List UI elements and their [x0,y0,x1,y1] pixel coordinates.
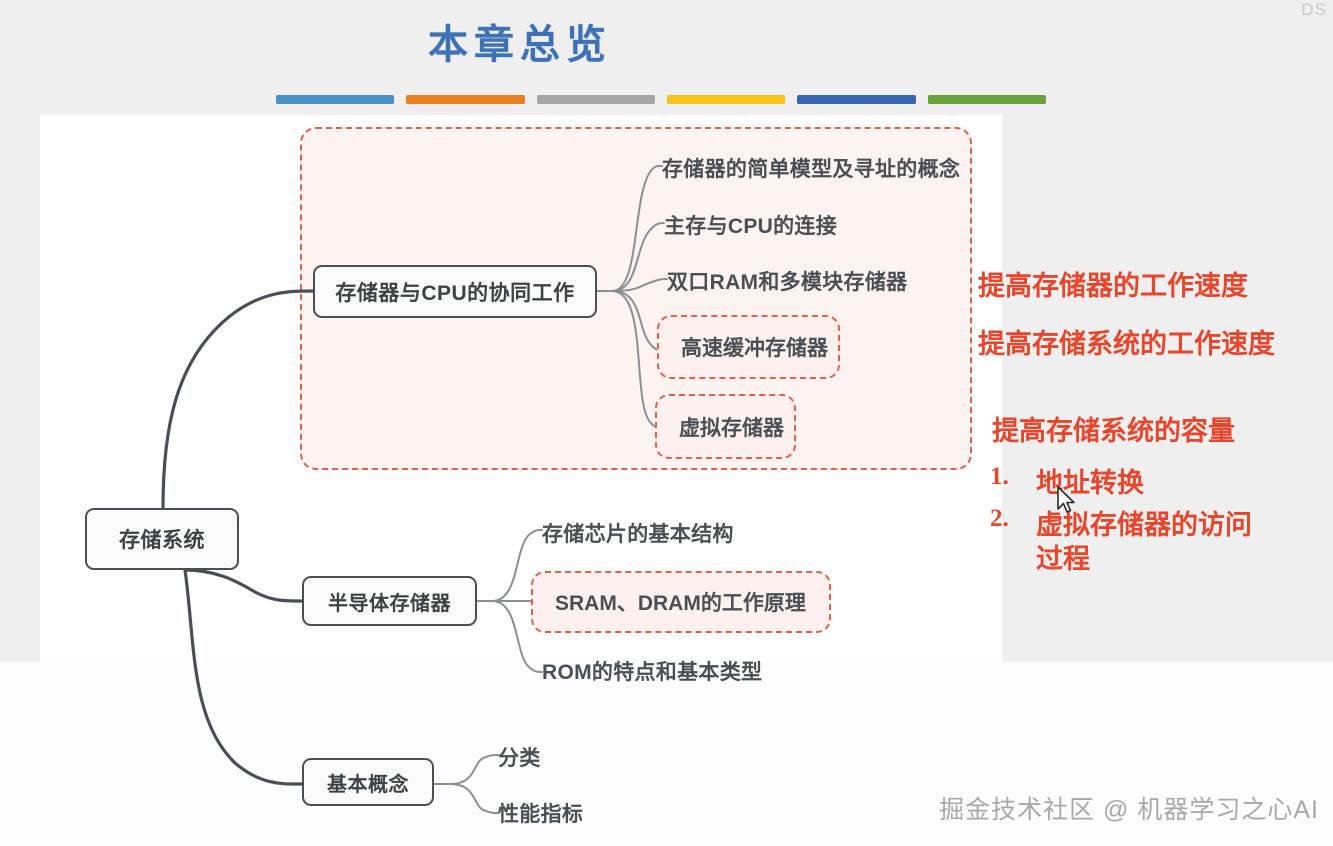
node-label: 存储系统 [119,524,205,554]
mindmap-branch-node-1[interactable]: 存储器与CPU的协同工作 [313,265,597,318]
leaf-dashbox-2-2[interactable]: SRAM、DRAM的工作原理 [531,571,831,633]
annotation-line-2: 提高存储系统的工作速度 [978,322,1275,361]
annotation-numbered-text-1: 地址转换 [1036,461,1144,500]
mindmap-root-node[interactable]: 存储系统 [85,508,239,570]
leaf-label-1-3[interactable]: 双口RAM和多模块存储器 [667,266,907,296]
mouse-cursor-icon [1056,486,1078,516]
node-label: 半导体存储器 [328,587,451,616]
leaf-label: 高速缓冲存储器 [681,332,828,362]
leaf-label-3-1[interactable]: 分类 [498,742,541,772]
leaf-label-2-1[interactable]: 存储芯片的基本结构 [542,518,734,548]
annotation-line-1: 提高存储器的工作速度 [978,264,1248,303]
watermark-text: 掘金技术社区 @ 机器学习之心AI [939,790,1319,826]
annotation-number-2: 2. [990,505,1009,533]
leaf-label-1-2[interactable]: 主存与CPU的连接 [664,210,837,240]
corner-mark-text: DS [1301,0,1327,20]
leaf-label-2-3[interactable]: ROM的特点和基本类型 [542,656,762,686]
node-label: 基本概念 [327,768,409,797]
leaf-dashbox-1-5[interactable]: 虚拟存储器 [655,394,796,459]
annotation-number-1: 1. [990,463,1009,491]
leaf-label-3-2[interactable]: 性能指标 [498,798,583,828]
leaf-label: SRAM、DRAM的工作原理 [555,587,806,617]
leaf-label-1-1[interactable]: 存储器的简单模型及寻址的概念 [662,153,960,183]
video-stage: 本章总览 [0,0,1333,846]
leaf-label: 虚拟存储器 [679,412,784,442]
mindmap-branch-node-2[interactable]: 半导体存储器 [302,576,477,626]
annotation-line-3: 提高存储系统的容量 [992,409,1235,448]
mindmap-branch-node-3[interactable]: 基本概念 [302,758,434,806]
annotation-numbered-text-3: 过程 [1036,537,1090,576]
node-label: 存储器与CPU的协同工作 [335,277,574,307]
leaf-dashbox-1-4[interactable]: 高速缓冲存储器 [657,315,840,379]
